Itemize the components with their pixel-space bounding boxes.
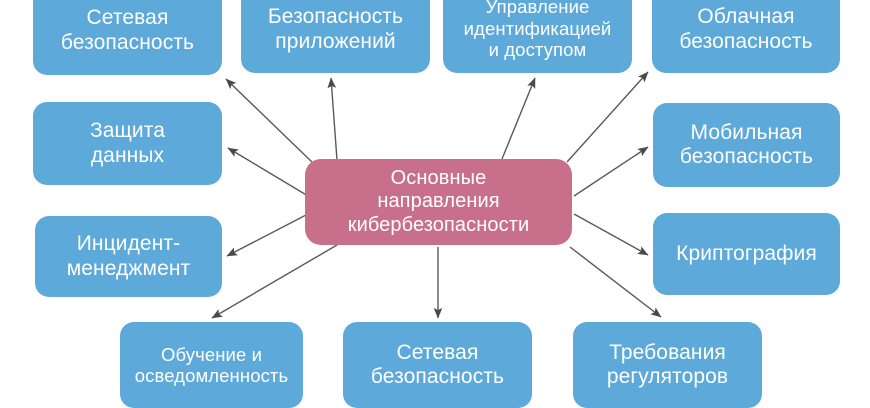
node-label: Сетевая безопасность xyxy=(371,341,504,390)
node-label: Криптография xyxy=(676,242,817,266)
mind-map-diagram: Сетевая безопасностьБезопасность приложе… xyxy=(0,0,870,400)
edge-to-training-awareness xyxy=(212,245,337,318)
branch-node-regulatory-requirements[interactable]: Требования регуляторов xyxy=(573,322,762,408)
node-label: Инцидент- менеджмент xyxy=(67,232,191,281)
branch-node-identity-access-management[interactable]: Управление идентификацией и доступом xyxy=(443,0,632,73)
branch-node-training-awareness[interactable]: Обучение и осведомленность xyxy=(120,322,303,408)
node-label: Основные направления кибербезопасности xyxy=(348,167,530,237)
branch-node-cloud-security[interactable]: Облачная безопасность xyxy=(652,0,840,73)
center-node-center[interactable]: Основные направления кибербезопасности xyxy=(305,159,572,245)
branch-node-network-security-top[interactable]: Сетевая безопасность xyxy=(33,0,222,75)
edge-to-regulatory-requirements xyxy=(570,247,661,317)
branch-node-network-security-bottom[interactable]: Сетевая безопасность xyxy=(343,322,532,408)
branch-node-data-protection[interactable]: Защита данных xyxy=(33,102,222,185)
node-label: Управление идентификацией и доступом xyxy=(464,0,612,61)
edge-to-cloud-security xyxy=(567,72,648,162)
node-label: Сетевая безопасность xyxy=(61,6,194,55)
node-label: Защита данных xyxy=(90,119,165,168)
branch-node-cryptography[interactable]: Криптография xyxy=(653,213,840,295)
node-label: Требования регуляторов xyxy=(607,341,728,390)
edge-to-identity-access-management xyxy=(502,78,535,159)
edge-to-data-protection xyxy=(228,148,308,196)
node-label: Безопасность приложений xyxy=(268,5,403,54)
edge-to-cryptography xyxy=(574,214,648,255)
edge-to-application-security xyxy=(331,78,337,160)
branch-node-mobile-security[interactable]: Мобильная безопасность xyxy=(653,103,840,187)
edge-to-mobile-security xyxy=(574,147,648,196)
branch-node-application-security[interactable]: Безопасность приложений xyxy=(241,0,430,73)
edge-to-incident-management xyxy=(227,215,306,256)
node-label: Мобильная безопасность xyxy=(680,121,813,170)
node-label: Обучение и осведомленность xyxy=(135,344,289,387)
node-label: Облачная безопасность xyxy=(679,5,812,54)
branch-node-incident-management[interactable]: Инцидент- менеджмент xyxy=(35,216,222,297)
edge-to-network-security-top xyxy=(226,79,313,163)
